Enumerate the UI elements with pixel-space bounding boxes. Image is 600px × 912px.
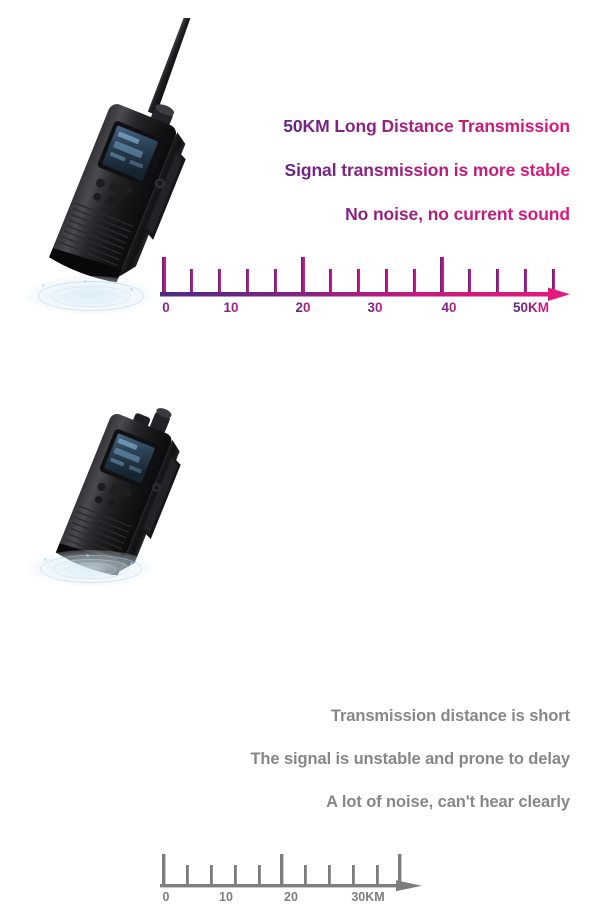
- water-droplet: [130, 562, 133, 565]
- tick-label: 0: [162, 300, 170, 315]
- tick-label: 10: [223, 300, 238, 315]
- water-droplet: [130, 288, 133, 291]
- tick-label: 30: [367, 300, 382, 315]
- tick-label: 50KM: [513, 300, 549, 315]
- tick-label: 10: [219, 890, 233, 904]
- range-ruler-30km: 0 10 20 30KM: [160, 848, 422, 912]
- tick-label: 40: [441, 300, 456, 315]
- radio-illustration: [28, 390, 208, 595]
- ruler-baseline: [160, 884, 400, 887]
- water-droplet: [84, 280, 87, 283]
- top-comparison-panel: 50KM Long Distance Transmission Signal t…: [0, 0, 600, 330]
- ruler-arrowhead: [548, 288, 570, 302]
- water-droplet: [44, 558, 47, 561]
- tick-label: 20: [295, 300, 310, 315]
- ripple-ring: [66, 563, 116, 576]
- water-droplet: [86, 554, 89, 557]
- range-ruler-50km: 0 10 20 30 40 50KM: [160, 252, 570, 322]
- antenna: [145, 18, 216, 115]
- ruler-ticks: [162, 854, 401, 886]
- headline-line-1: Transmission distance is short: [180, 695, 570, 738]
- ruler-axis-50km: [160, 252, 570, 300]
- headline-line-2: The signal is unstable and prone to dela…: [180, 738, 570, 781]
- product-photo-short-range: [28, 390, 208, 595]
- bottom-comparison-panel: Transmission distance is short The signa…: [0, 330, 600, 600]
- headline-line-3: A lot of noise, can't hear clearly: [180, 781, 570, 824]
- headline-line-3: No noise, no current sound: [220, 192, 570, 236]
- ripple-ring: [64, 290, 118, 304]
- tick-label: 0: [163, 890, 170, 904]
- ruler-ticks: [162, 257, 555, 294]
- ruler-baseline: [160, 292, 552, 297]
- ruler-tick-labels-50km: 0 10 20 30 40 50KM: [160, 300, 570, 318]
- headline-line-2: Signal transmission is more stable: [220, 148, 570, 192]
- ruler-tick-labels-30km: 0 10 20 30KM: [160, 890, 422, 908]
- headline-line-1: 50KM Long Distance Transmission: [220, 104, 570, 148]
- water-droplet: [42, 284, 45, 287]
- tick-label: 30KM: [351, 890, 384, 904]
- bottom-headline-group: Transmission distance is short The signa…: [180, 695, 570, 824]
- tick-label: 20: [284, 890, 298, 904]
- marketing-image: 50KM Long Distance Transmission Signal t…: [0, 0, 600, 600]
- top-headline-group: 50KM Long Distance Transmission Signal t…: [220, 104, 570, 236]
- ruler-axis-30km: [160, 848, 422, 892]
